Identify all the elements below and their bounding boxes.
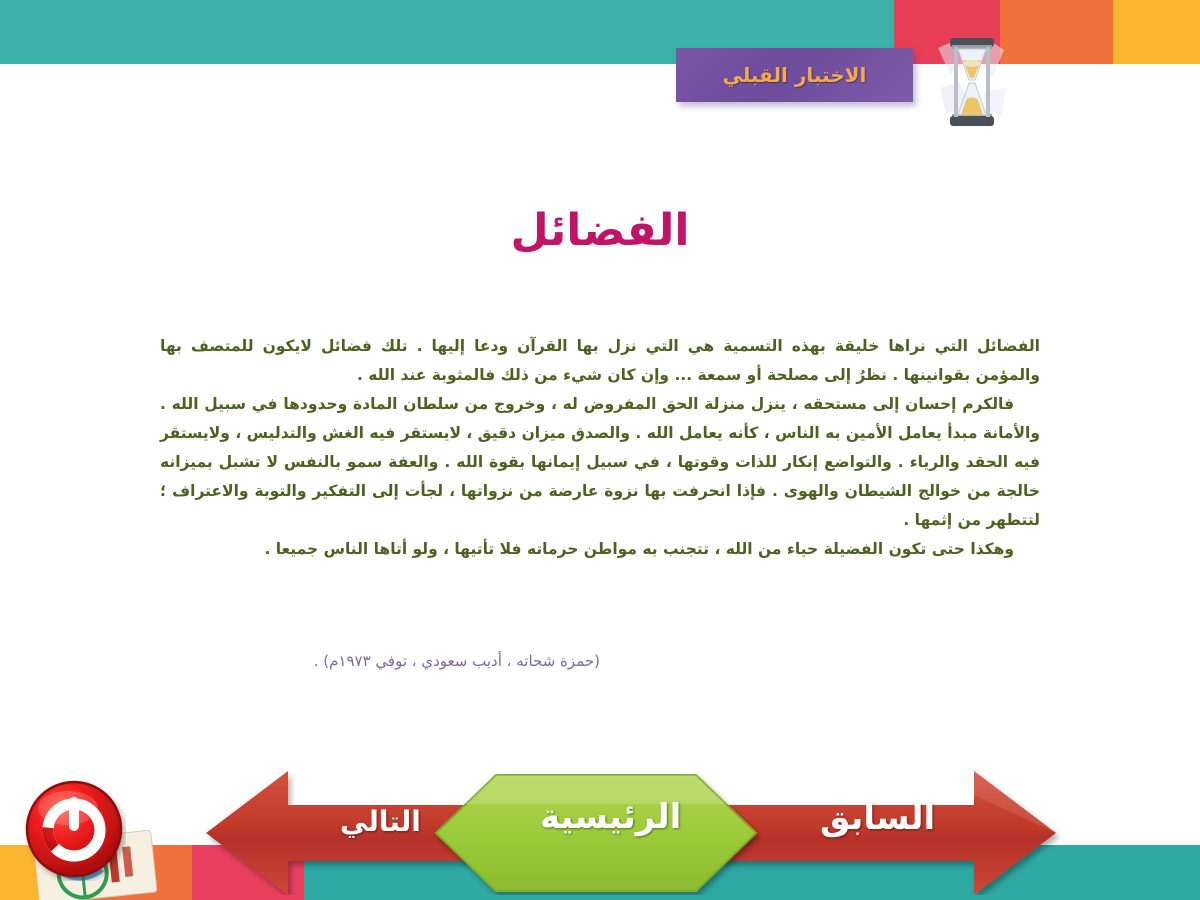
pre-test-badge[interactable]: الاختبار القبلي [676,48,913,102]
nav-previous-button[interactable] [1000,790,1150,862]
power-icon[interactable] [23,778,126,881]
nav-next-button[interactable] [215,790,390,862]
top-band-orange [1000,0,1113,60]
top-band-orange-underline [1000,60,1113,64]
lesson-body: الفضائل التي نراها خليقة بهذه التسمية هي… [160,332,1040,564]
slide-canvas: الاختبار القبلي الفضائل الفضائل ا [0,0,1200,900]
body-paragraph-3: وهكذا حتى تكون الفضيلة حياء من الله ، تت… [160,535,1040,564]
source-attribution: (حمزة شحاته ، أديب سعودي ، توفي ١٩٧٣م) . [314,652,600,670]
nav-home-button[interactable] [490,775,800,895]
pre-test-badge-label: الاختبار القبلي [723,63,867,87]
page-title: الفضائل [0,205,1200,256]
body-paragraph-2: فالكرم إحسان إلى مستحقه ، ينزل منزلة الح… [160,390,1040,535]
body-paragraph-1: الفضائل التي نراها خليقة بهذه التسمية هي… [160,332,1040,390]
top-band-yellow [1113,0,1200,60]
top-band-yellow-underline [1113,60,1200,64]
hourglass-icon [930,30,1014,130]
